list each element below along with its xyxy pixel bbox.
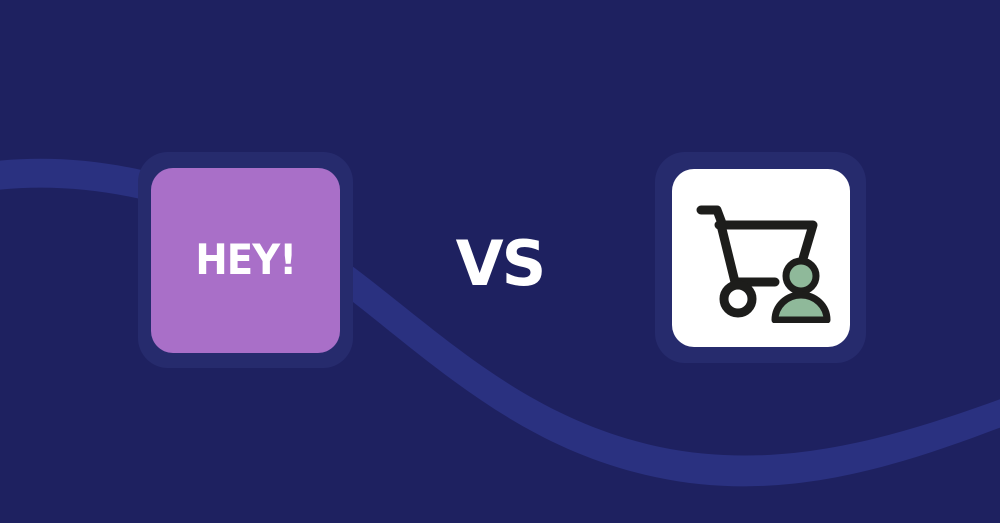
cart-basket-left-shape [721,225,775,282]
person-head-shape [786,261,816,291]
right-app-icon-tile [672,169,850,347]
customer-person-icon [775,261,827,320]
right-app-card[interactable] [655,152,866,363]
cart-user-icon [691,193,831,323]
person-body-shape [775,295,827,320]
cart-wheel-icon [724,285,752,313]
vs-comparison-banner: HEY! VS [0,0,1000,523]
comparison-stage: HEY! VS [0,0,1000,523]
